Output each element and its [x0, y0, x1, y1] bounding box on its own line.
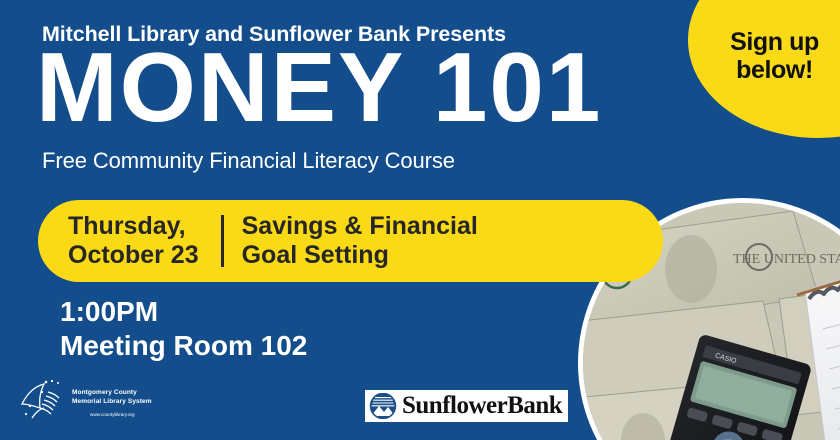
sunflower-bank-mark-icon: [369, 393, 397, 419]
sunflower-bank-name: SunflowerBank: [397, 392, 562, 420]
signup-badge-line2: below!: [712, 56, 837, 84]
session-location: Meeting Room 102: [60, 329, 307, 363]
library-logo-text: Montgomery County Memorial Library Syste…: [70, 388, 152, 418]
signup-badge-text: Sign up below!: [712, 28, 837, 84]
session-date-line1: Thursday,: [68, 212, 199, 241]
session-topic: Savings & Financial Goal Setting: [242, 212, 478, 270]
banner-divider: [221, 215, 224, 267]
session-banner: Thursday, October 23 Savings & Financial…: [38, 200, 663, 282]
svg-text:THE UNITED STATES OF AMERICA: THE UNITED STATES OF AMERICA: [733, 252, 840, 267]
event-flyer: 10 THE UNITED STATES OF AMERICA: [0, 0, 840, 440]
session-date: Thursday, October 23: [38, 212, 199, 270]
page-title: MONEY 101: [36, 38, 602, 136]
library-name-line2: Memorial Library System: [72, 397, 152, 406]
session-date-line2: October 23: [68, 241, 199, 270]
library-logo: Montgomery County Memorial Library Syste…: [18, 374, 168, 432]
session-topic-line1: Savings & Financial: [242, 212, 478, 241]
session-time-location: 1:00PM Meeting Room 102: [60, 295, 307, 363]
session-topic-line2: Goal Setting: [242, 241, 478, 270]
library-website-url: www.countylibrary.org: [72, 407, 152, 418]
open-book-icon: [18, 378, 70, 428]
signup-badge-line1: Sign up: [712, 28, 837, 56]
session-time: 1:00PM: [60, 295, 307, 329]
sunflower-bank-logo: SunflowerBank: [365, 390, 568, 422]
library-name-line1: Montgomery County: [72, 388, 152, 397]
course-subtitle: Free Community Financial Literacy Course: [42, 148, 455, 174]
